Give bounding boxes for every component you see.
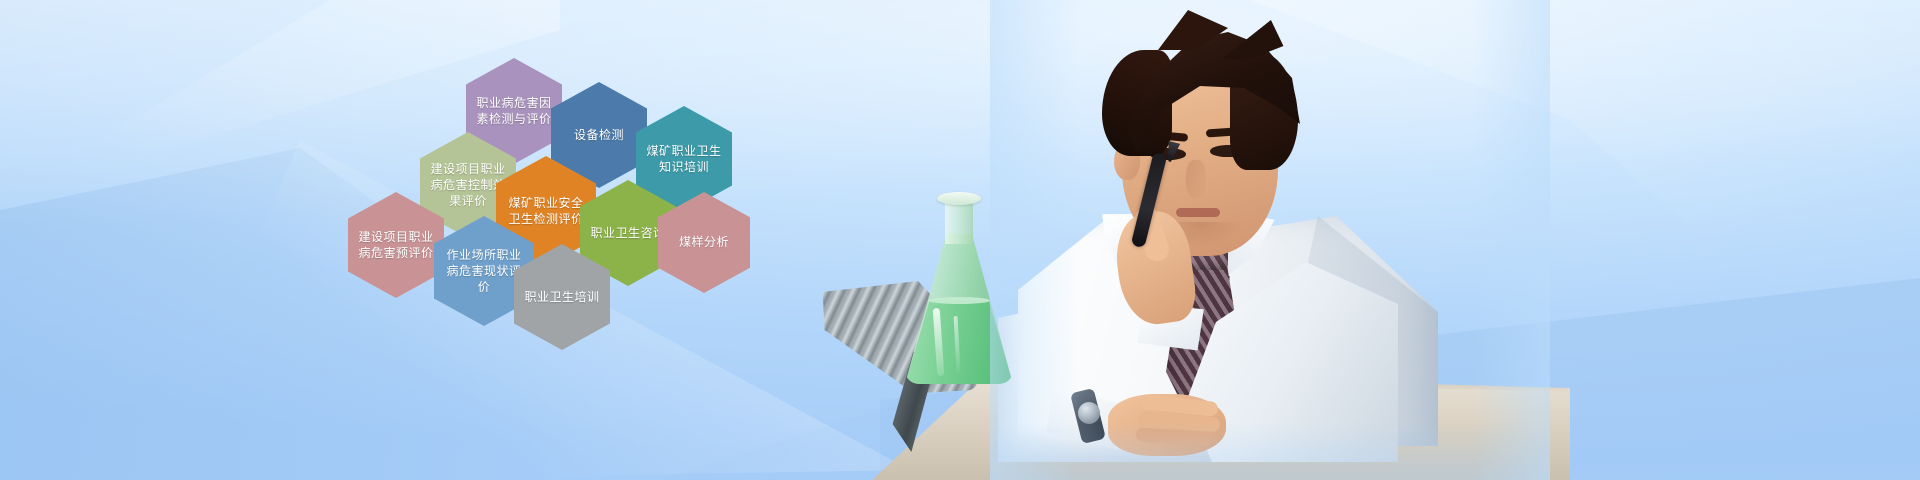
hex-label: 职业卫生培训 (515, 289, 608, 305)
scientist-thinking-photo (990, 0, 1550, 480)
hex-label: 煤样分析 (670, 234, 738, 250)
banner-stage: 职业病危害因素检测与评价设备检测煤矿职业卫生知识培训建设项目职业病危害控制效果评… (0, 0, 1920, 480)
hex-label: 煤矿职业卫生知识培训 (636, 143, 732, 175)
hex-label: 职业病危害因素检测与评价 (466, 95, 562, 127)
conical-flask (895, 188, 1025, 388)
wristwatch-face (1078, 402, 1100, 424)
hex-label: 建设项目职业病危害预评价 (348, 229, 444, 261)
nose (1186, 160, 1206, 198)
flask-liquid-surface (928, 297, 990, 304)
flask-rim (937, 192, 981, 205)
mouth (1176, 208, 1220, 217)
hex-label: 设备检测 (565, 127, 633, 143)
